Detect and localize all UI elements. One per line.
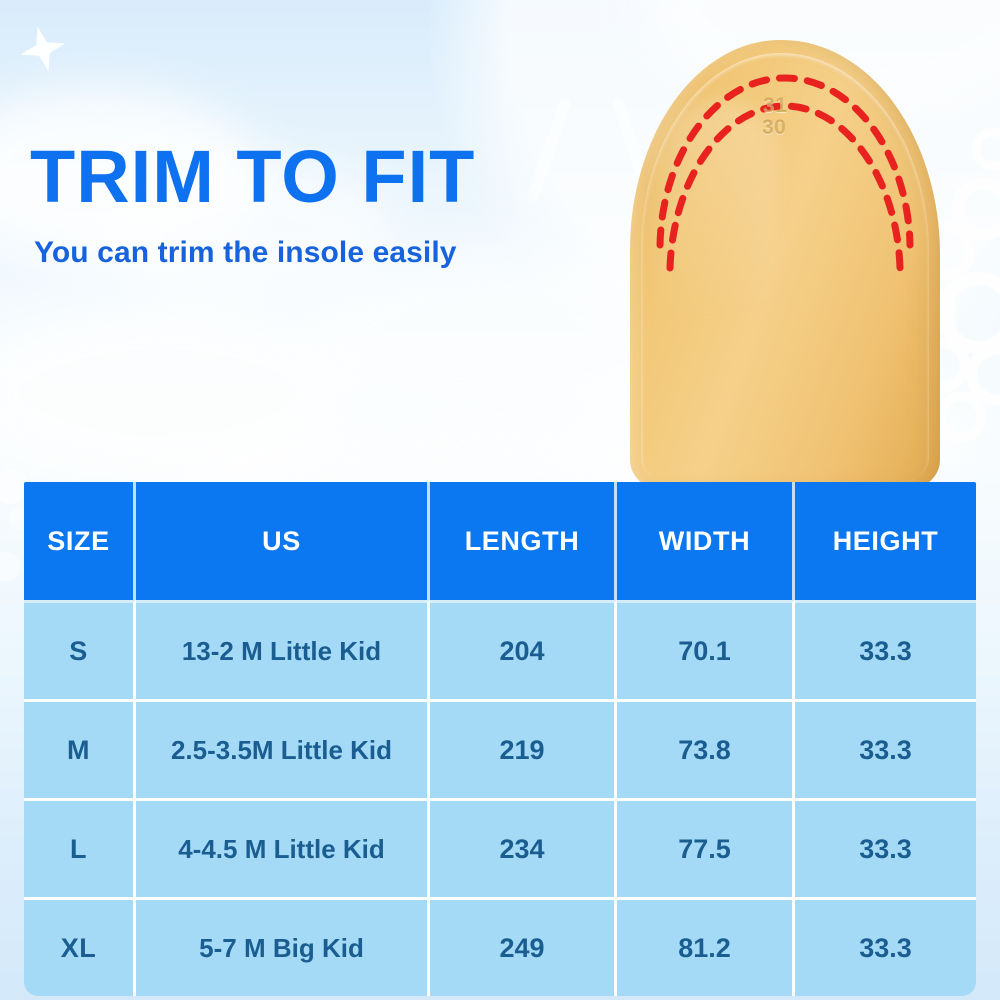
insole-size-emboss-30: 30 [762, 116, 786, 140]
table-row: M 2.5-3.5M Little Kid 219 73.8 33.3 [24, 699, 976, 798]
cell-size: L [24, 798, 136, 897]
cell-width: 81.2 [617, 897, 795, 996]
cell-width: 70.1 [617, 600, 795, 699]
table-row: XL 5-7 M Big Kid 249 81.2 33.3 [24, 897, 976, 996]
bubble-ring-icon [966, 344, 1000, 406]
cell-us: 2.5-3.5M Little Kid [136, 699, 430, 798]
size-chart-table: SIZE US LENGTH WIDTH HEIGHT S 13-2 M Lit… [24, 482, 976, 996]
cell-height: 33.3 [795, 798, 976, 897]
bubble-ring-icon [938, 272, 1000, 354]
cell-length: 219 [430, 699, 617, 798]
cell-height: 33.3 [795, 897, 976, 996]
sparkle-star-icon [15, 21, 71, 77]
column-header-height: HEIGHT [795, 482, 976, 600]
bubble-ring-icon [972, 128, 1000, 170]
cell-length: 234 [430, 798, 617, 897]
page-title: TRIM TO FIT [30, 140, 650, 214]
bubble-dot-icon [0, 552, 20, 582]
cell-size: M [24, 699, 136, 798]
bubble-ring-icon [936, 392, 986, 442]
cell-us: 4-4.5 M Little Kid [136, 798, 430, 897]
cell-width: 77.5 [617, 798, 795, 897]
cell-width: 73.8 [617, 699, 795, 798]
headline-block: TRIM TO FIT You can trim the insole easi… [30, 140, 650, 270]
table-header-row: SIZE US LENGTH WIDTH HEIGHT [24, 482, 976, 600]
table-row: L 4-4.5 M Little Kid 234 77.5 33.3 [24, 798, 976, 897]
cell-us: 13-2 M Little Kid [136, 600, 430, 699]
insole-product-image: 31 30 [630, 40, 940, 490]
bubble-ring-icon [952, 178, 1000, 240]
page-subtitle: You can trim the insole easily [34, 236, 650, 270]
cell-size: XL [24, 897, 136, 996]
cell-us: 5-7 M Big Kid [136, 897, 430, 996]
infographic-page: TRIM TO FIT You can trim the insole easi… [0, 0, 1000, 1000]
column-header-width: WIDTH [617, 482, 795, 600]
column-header-size: SIZE [24, 482, 136, 600]
cell-height: 33.3 [795, 600, 976, 699]
table-row: S 13-2 M Little Kid 204 70.1 33.3 [24, 600, 976, 699]
cell-height: 33.3 [795, 699, 976, 798]
column-header-length: LENGTH [430, 482, 617, 600]
cloud-blob [0, 300, 360, 490]
cell-length: 204 [430, 600, 617, 699]
cell-length: 249 [430, 897, 617, 996]
insole-size-emboss-31: 31 [763, 94, 787, 118]
cell-size: S [24, 600, 136, 699]
column-header-us: US [136, 482, 430, 600]
